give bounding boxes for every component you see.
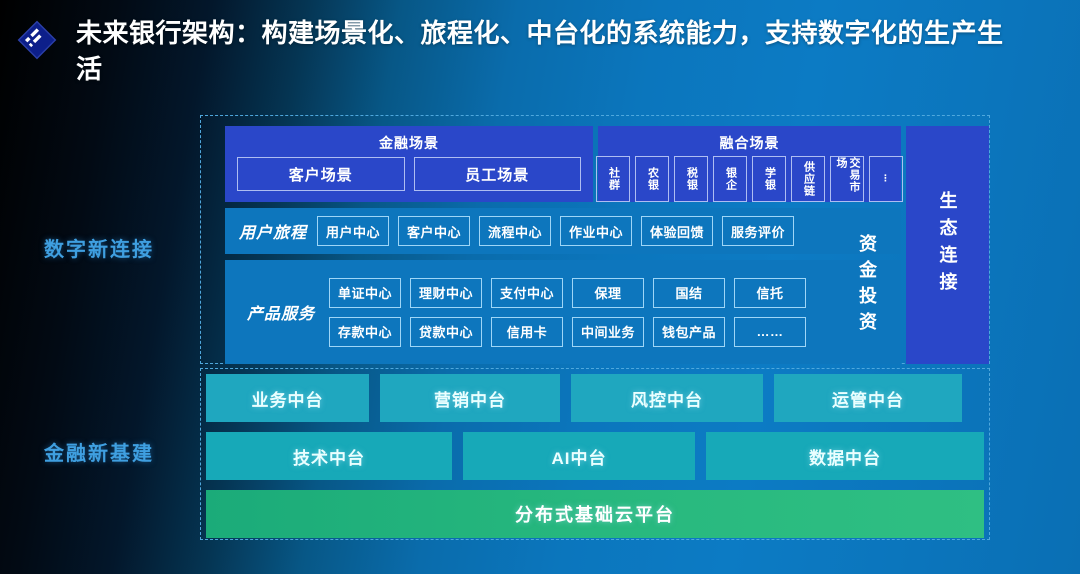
integrated-box-community[interactable]: 社群 — [596, 156, 630, 202]
chip-service-evaluation[interactable]: 服务评价 — [722, 216, 794, 246]
integrated-box-school-bank[interactable]: 学银 — [752, 156, 786, 202]
chip-factoring[interactable]: 保理 — [572, 278, 644, 308]
slide-canvas: 未来银行架构：构建场景化、旅程化、中台化的系统能力，支持数字化的生产生活 数字新… — [0, 0, 1080, 574]
chip-customer-center[interactable]: 客户中心 — [398, 216, 470, 246]
fund-investment-label: 资金投资 — [842, 208, 892, 364]
chip-document-center[interactable]: 单证中心 — [329, 278, 401, 308]
chip-wealth-center[interactable]: 理财中心 — [410, 278, 482, 308]
product-service-chip-grid: 单证中心 理财中心 支付中心 保理 国结 信托 存款中心 贷款中心 信用卡 中间… — [329, 278, 806, 347]
bottom-section-content: 业务中台 营销中台 风控中台 运管中台 技术中台 AI中台 数据中台 分布式基础… — [206, 374, 984, 534]
card-tech-middle-platform[interactable]: 技术中台 — [206, 432, 452, 480]
integrated-box-bank-enterprise[interactable]: 银企 — [713, 156, 747, 202]
financial-scenario-panel: 金融场景 客户场景 员工场景 — [225, 126, 593, 202]
chip-process-center[interactable]: 流程中心 — [479, 216, 551, 246]
integrated-scenario-panel: 融合场景 社群 农银 税银 银企 学银 供应链 交易市场 ⋮ — [598, 126, 901, 202]
card-ai-middle-platform[interactable]: AI中台 — [463, 432, 695, 480]
distributed-cloud-platform-bar[interactable]: 分布式基础云平台 — [206, 490, 984, 538]
diamond-logo-icon — [17, 20, 57, 60]
product-chip-row-1: 单证中心 理财中心 支付中心 保理 国结 信托 — [329, 278, 806, 308]
card-business-middle-platform[interactable]: 业务中台 — [206, 374, 369, 422]
financial-scenario-title: 金融场景 — [225, 126, 593, 153]
integrated-scenario-box-row: 社群 农银 税银 银企 学银 供应链 交易市场 ⋮ — [598, 153, 901, 202]
chip-operation-center[interactable]: 作业中心 — [560, 216, 632, 246]
ecology-connection-panel[interactable]: 生态连接 — [906, 126, 989, 364]
scenario-box-employee[interactable]: 员工场景 — [414, 157, 582, 191]
top-section-content: 金融场景 客户场景 员工场景 融合场景 社群 农银 税银 银企 学银 供应链 交… — [206, 121, 984, 358]
scenario-box-customer[interactable]: 客户场景 — [237, 157, 405, 191]
page-title: 未来银行架构：构建场景化、旅程化、中台化的系统能力，支持数字化的生产生活 — [76, 15, 1006, 87]
integrated-box-agri-bank[interactable]: 农银 — [635, 156, 669, 202]
card-data-middle-platform[interactable]: 数据中台 — [706, 432, 984, 480]
chip-wallet-product[interactable]: 钱包产品 — [653, 317, 725, 347]
chip-payment-center[interactable]: 支付中心 — [491, 278, 563, 308]
card-marketing-middle-platform[interactable]: 营销中台 — [380, 374, 560, 422]
chip-intermediary-business[interactable]: 中间业务 — [572, 317, 644, 347]
financial-scenario-box-row: 客户场景 员工场景 — [225, 153, 593, 191]
user-journey-row: 用户旅程 用户中心 客户中心 流程中心 作业中心 体验回馈 服务评价 — [225, 208, 901, 254]
integrated-box-supply-chain[interactable]: 供应链 — [791, 156, 825, 202]
chip-more-products[interactable]: …… — [734, 317, 806, 347]
slide-header: 未来银行架构：构建场景化、旅程化、中台化的系统能力，支持数字化的生产生活 — [0, 0, 1080, 104]
middle-platform-row-2: 技术中台 AI中台 数据中台 — [206, 432, 984, 480]
rail-label-digital-connection: 数字新连接 — [44, 233, 154, 262]
rail-label-financial-infrastructure: 金融新基建 — [44, 437, 154, 466]
product-chip-row-2: 存款中心 贷款中心 信用卡 中间业务 钱包产品 …… — [329, 317, 806, 347]
integrated-box-more[interactable]: ⋮ — [869, 156, 903, 202]
chip-deposit-center[interactable]: 存款中心 — [329, 317, 401, 347]
user-journey-chip-row: 用户中心 客户中心 流程中心 作业中心 体验回馈 服务评价 — [317, 216, 794, 246]
integrated-scenario-title: 融合场景 — [598, 126, 901, 153]
chip-loan-center[interactable]: 贷款中心 — [410, 317, 482, 347]
product-service-label: 产品服务 — [225, 300, 329, 324]
integrated-box-tax-bank[interactable]: 税银 — [674, 156, 708, 202]
card-operations-middle-platform[interactable]: 运管中台 — [774, 374, 962, 422]
chip-intl-settlement[interactable]: 国结 — [653, 278, 725, 308]
product-service-block: 产品服务 单证中心 理财中心 支付中心 保理 国结 信托 存款中心 贷款中心 信… — [225, 260, 901, 364]
chip-experience-feedback[interactable]: 体验回馈 — [641, 216, 713, 246]
chip-credit-card[interactable]: 信用卡 — [491, 317, 563, 347]
chip-trust[interactable]: 信托 — [734, 278, 806, 308]
chip-user-center[interactable]: 用户中心 — [317, 216, 389, 246]
integrated-box-trading-market[interactable]: 交易市场 — [830, 156, 864, 202]
middle-platform-row-1: 业务中台 营销中台 风控中台 运管中台 — [206, 374, 984, 422]
card-risk-middle-platform[interactable]: 风控中台 — [571, 374, 763, 422]
user-journey-label: 用户旅程 — [225, 219, 317, 243]
